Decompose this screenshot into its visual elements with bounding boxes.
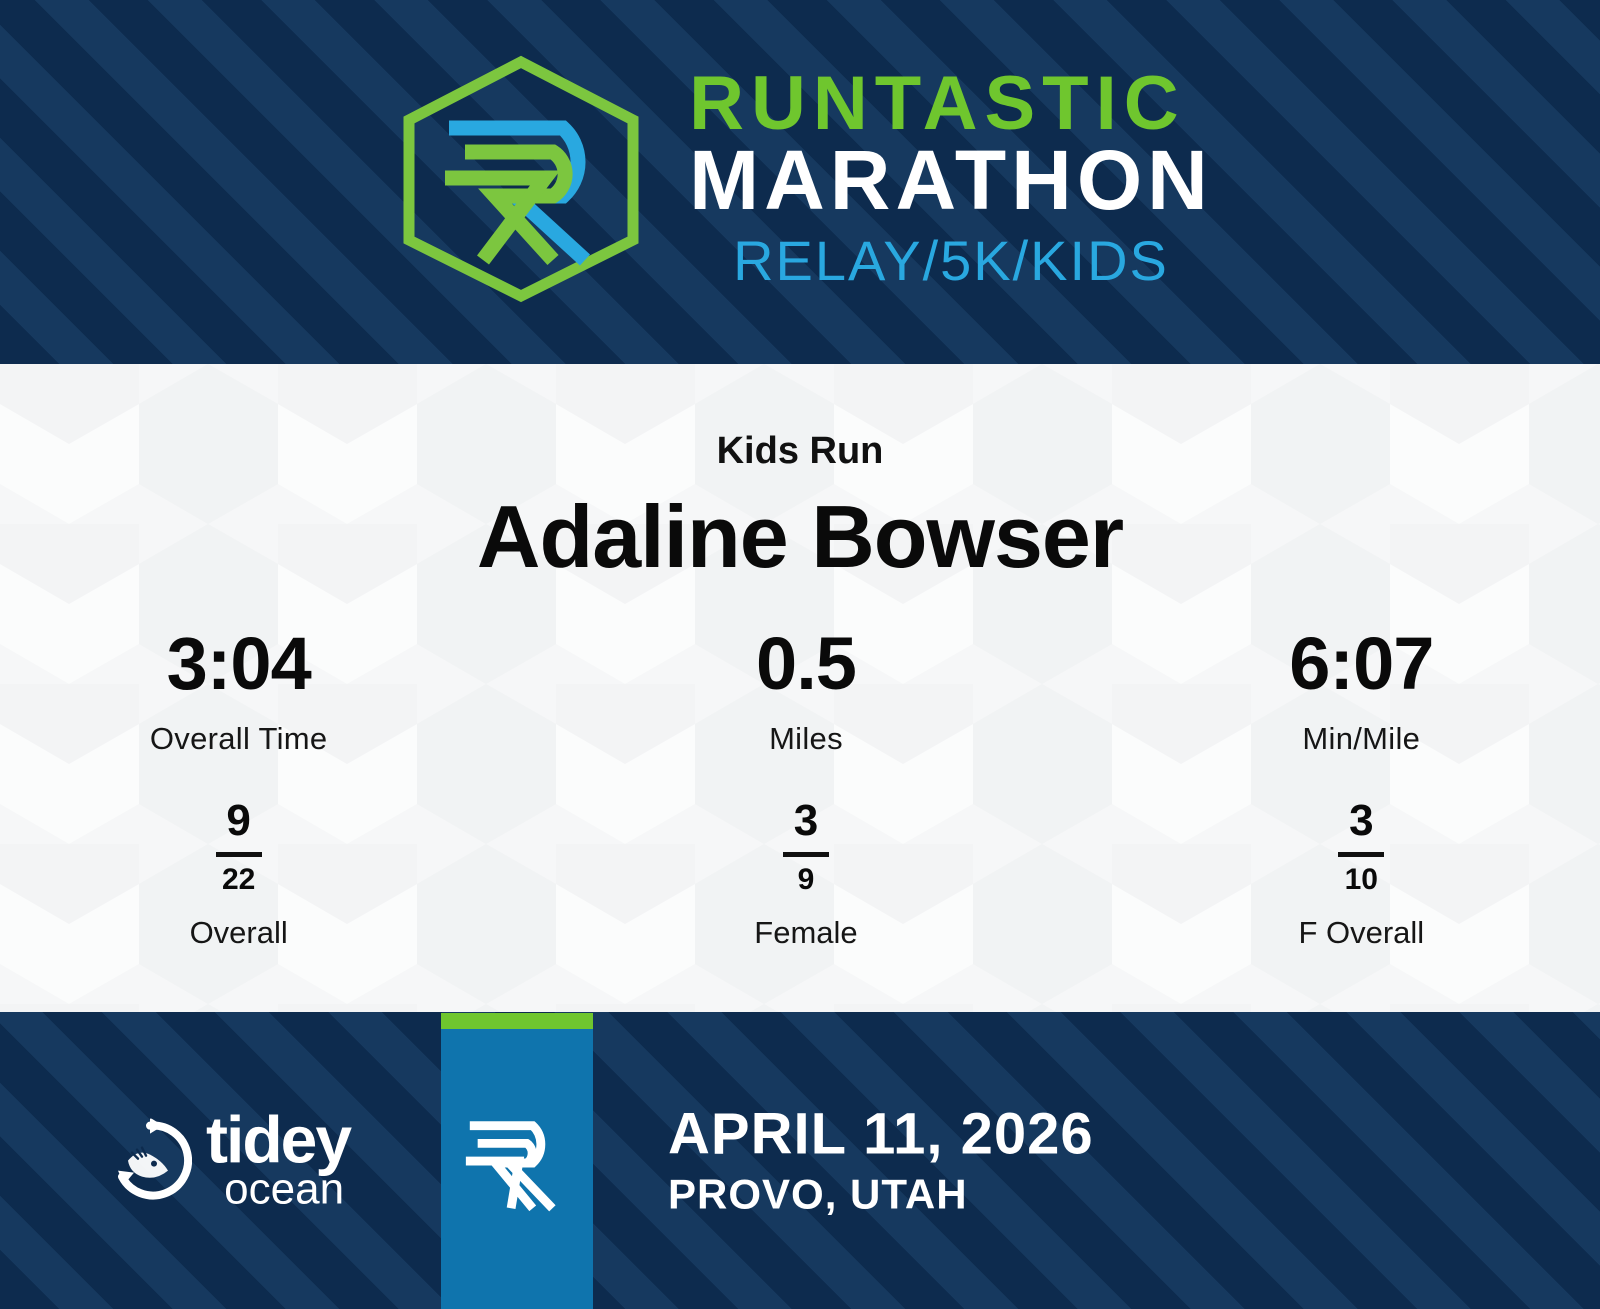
fraction-bar (216, 852, 262, 857)
rank-place: 3 (794, 799, 818, 843)
result-body: Kids Run Adaline Bowser 3:04 Overall Tim… (0, 364, 1600, 1012)
stat-label: Min/Mile (1302, 721, 1420, 757)
brand-marathon: MARATHON (689, 138, 1213, 224)
rank-fraction: 3 10 (1338, 799, 1384, 895)
rank-label: F Overall (1298, 915, 1424, 951)
fraction-bar (783, 852, 829, 857)
rankings-row: 9 22 Overall 3 9 Female (0, 799, 1600, 951)
poster-header: RUNTASTIC MARATHON RELAY/5K/KIDS (0, 0, 1600, 364)
brand-relay-5k-kids: RELAY/5K/KIDS (733, 230, 1169, 292)
rank-overall: 9 22 Overall (0, 799, 567, 951)
stats-row: 3:04 Overall Time 0.5 Miles 6:07 Min/Mil… (0, 627, 1600, 757)
fraction-bar (1338, 852, 1384, 857)
rank-total: 9 (798, 865, 815, 895)
stat-min-per-mile: 6:07 Min/Mile (1045, 627, 1600, 757)
stat-label: Miles (769, 721, 843, 757)
race-result-poster: RUNTASTIC MARATHON RELAY/5K/KIDS (0, 0, 1600, 1309)
event-location: PROVO, UTAH (668, 1172, 1094, 1218)
athlete-name: Adaline Bowser (0, 491, 1600, 583)
stat-value: 0.5 (756, 627, 856, 701)
stat-value: 6:07 (1289, 627, 1433, 701)
event-date: APRIL 11, 2026 (668, 1103, 1094, 1166)
poster-footer: tidey ocean APRIL 11, 2026 PROVO, UTAH (0, 1012, 1600, 1309)
rank-total: 10 (1345, 865, 1378, 895)
tidey-ocean-wordmark: tidey ocean (206, 1109, 350, 1212)
stat-label: Overall Time (150, 721, 328, 757)
race-name: Kids Run (0, 430, 1600, 473)
tidey-ocean-recycle-fish-icon (108, 1119, 192, 1203)
event-details: APRIL 11, 2026 PROVO, UTAH (668, 1103, 1094, 1218)
stat-overall-time: 3:04 Overall Time (0, 627, 567, 757)
rank-fraction: 9 22 (216, 799, 262, 895)
sponsor-name-sub: ocean (224, 1168, 350, 1212)
rank-label: Female (754, 915, 857, 951)
stat-miles: 0.5 Miles (567, 627, 1044, 757)
rank-place: 9 (226, 799, 250, 843)
runtastic-hexagon-r-logo-icon (387, 44, 655, 312)
rank-place: 3 (1349, 799, 1373, 843)
rank-fraction: 3 9 (783, 799, 829, 895)
sponsor-name-main: tidey (206, 1109, 350, 1170)
rank-label: Overall (190, 915, 288, 951)
banner-green-cap (441, 1013, 593, 1029)
sponsor-tidey-ocean-logo: tidey ocean (108, 1109, 350, 1212)
stat-value: 3:04 (167, 627, 311, 701)
runtastic-r-mark-icon (458, 1106, 576, 1224)
rank-f-overall: 3 10 F Overall (1045, 799, 1600, 951)
rank-female: 3 9 Female (567, 799, 1044, 951)
brand-runtastic: RUNTASTIC (689, 65, 1185, 143)
brand-wordmark: RUNTASTIC MARATHON RELAY/5K/KIDS (689, 65, 1213, 292)
rank-total: 22 (222, 865, 255, 895)
runtastic-banner (441, 1013, 593, 1309)
